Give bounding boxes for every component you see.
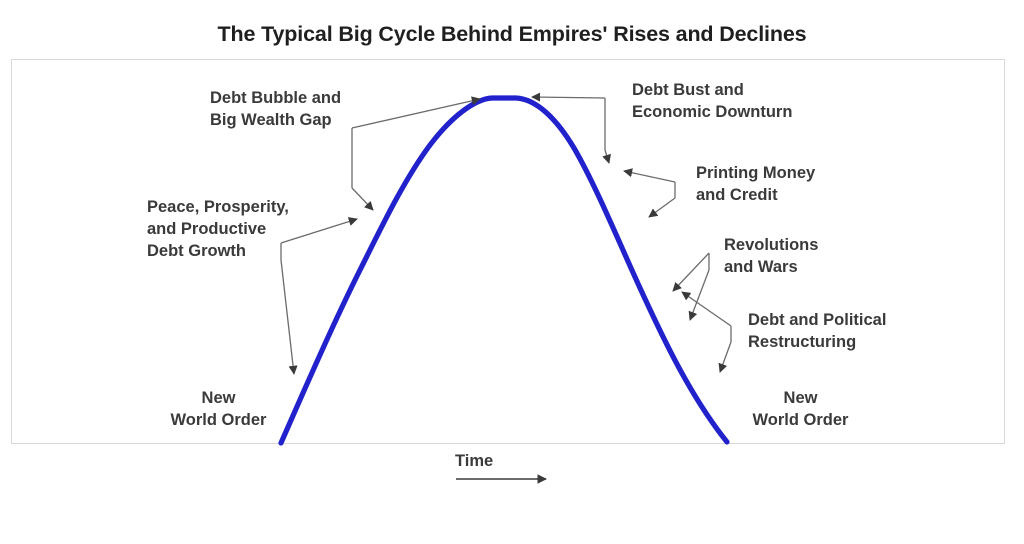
page-title: The Typical Big Cycle Behind Empires' Ri… (0, 22, 1024, 47)
annotation-debt-political: Debt and Political Restructuring (748, 310, 886, 354)
axis-label-time: Time (455, 452, 493, 471)
annotation-peace-prosperity: Peace, Prosperity, and Productive Debt G… (147, 197, 289, 262)
annotation-debt-bubble: Debt Bubble and Big Wealth Gap (210, 88, 341, 132)
annotation-printing-money: Printing Money and Credit (696, 163, 815, 207)
annotation-revolutions-wars: Revolutions and Wars (724, 235, 818, 279)
annotation-new-world-order-right: New World Order (733, 388, 868, 432)
chart-canvas: The Typical Big Cycle Behind Empires' Ri… (0, 0, 1024, 544)
annotation-new-world-order-left: New World Order (151, 388, 286, 432)
annotation-debt-bust: Debt Bust and Economic Downturn (632, 80, 792, 124)
